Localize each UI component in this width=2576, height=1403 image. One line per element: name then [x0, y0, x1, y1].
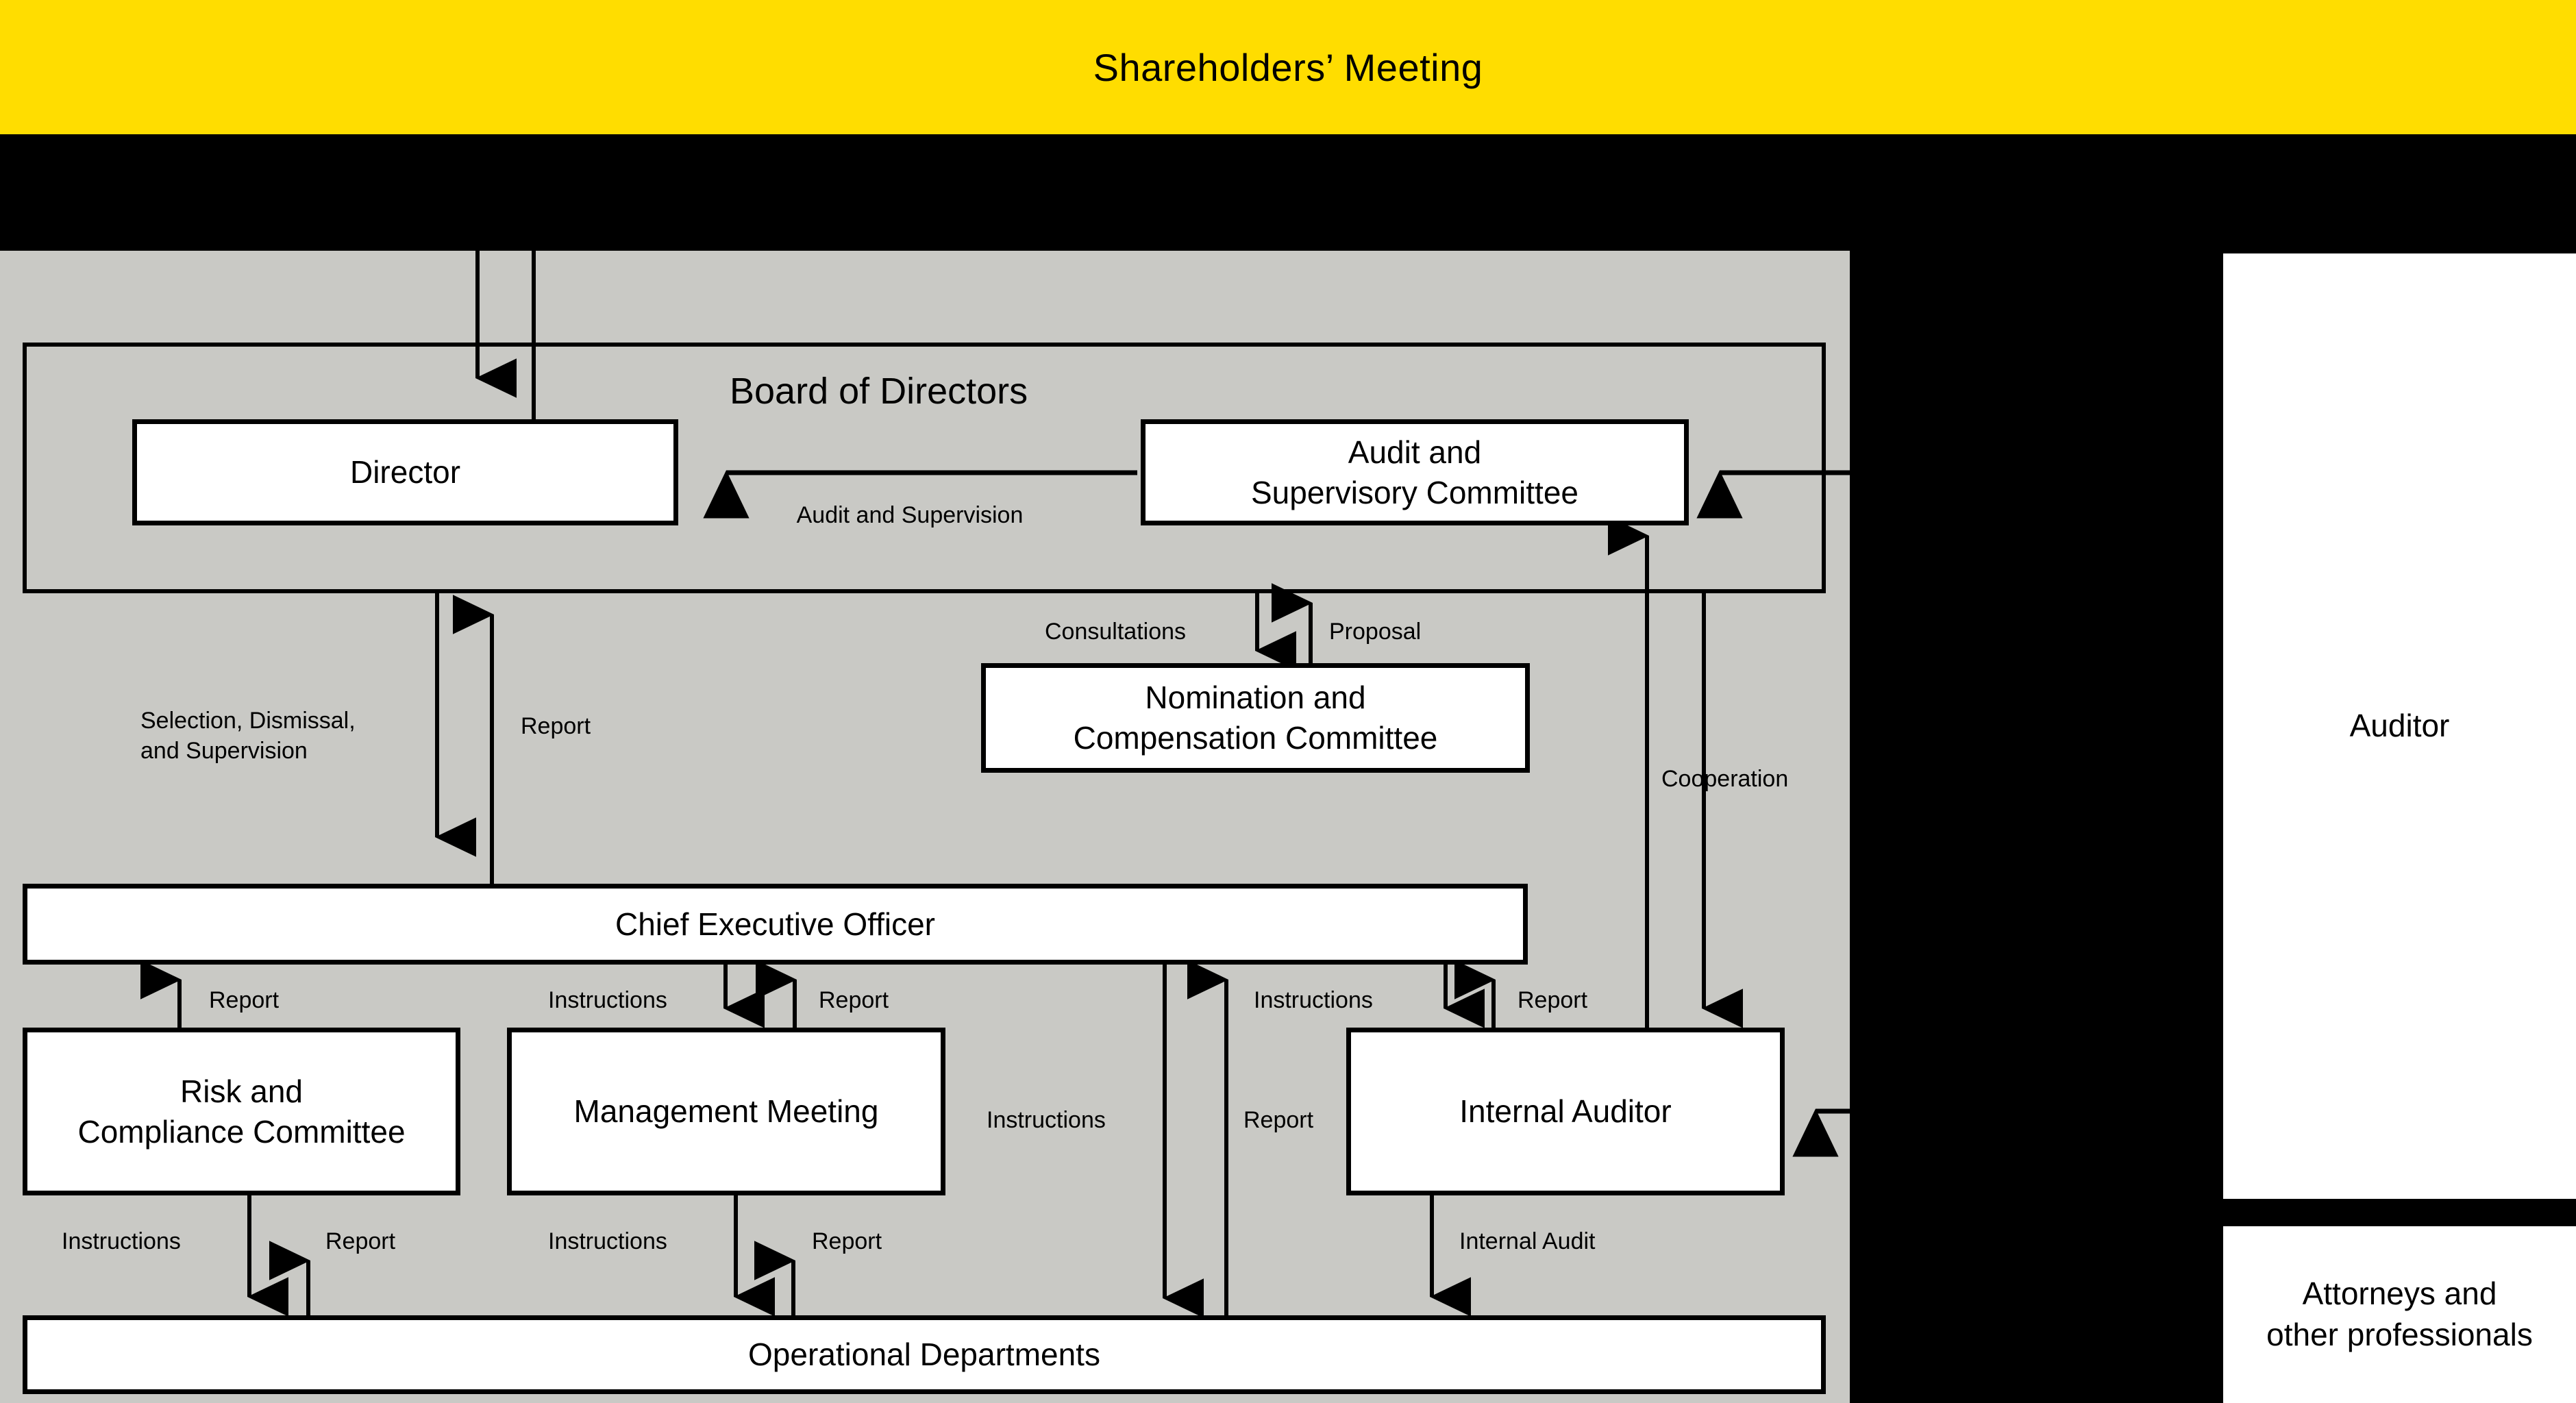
- attorneys-label-line1: Attorneys and: [2303, 1274, 2497, 1315]
- ceo-label: Chief Executive Officer: [615, 904, 935, 945]
- edge-label-report-operational-management: Report: [812, 1226, 882, 1256]
- risk-and-compliance-committee-box[interactable]: Risk and Compliance Committee: [23, 1028, 460, 1195]
- management-meeting-box[interactable]: Management Meeting: [507, 1028, 945, 1195]
- internal-auditor-label: Internal Auditor: [1459, 1091, 1671, 1132]
- shareholders-meeting-banner: Shareholders’ Meeting: [0, 0, 2576, 134]
- risk-label-line2: Compliance Committee: [77, 1112, 405, 1152]
- edge-label-cooperation: Cooperation: [1661, 764, 1788, 794]
- board-of-directors-title: Board of Directors: [730, 370, 1028, 412]
- edge-label-report-risk: Report: [209, 985, 279, 1015]
- nomination-label-line1: Nomination and: [1145, 678, 1365, 718]
- edge-label-instructions-ceo-operational: Instructions: [987, 1105, 1106, 1135]
- edge-label-audit-and-supervision: Audit and Supervision: [766, 500, 1054, 530]
- attorneys-and-other-professionals-box[interactable]: Attorneys and other professionals: [2223, 1226, 2576, 1403]
- audit-committee-label-line2: Supervisory Committee: [1251, 473, 1578, 513]
- selection-line1: Selection, Dismissal,: [140, 706, 428, 736]
- risk-label-line1: Risk and: [180, 1071, 303, 1112]
- audit-and-supervisory-committee-box[interactable]: Audit and Supervisory Committee: [1141, 419, 1689, 525]
- director-label: Director: [350, 452, 460, 493]
- edge-label-report-management: Report: [819, 985, 889, 1015]
- nomination-label-line2: Compensation Committee: [1074, 718, 1438, 758]
- edge-label-internal-audit: Internal Audit: [1459, 1226, 1595, 1256]
- director-box[interactable]: Director: [132, 419, 678, 525]
- auditor-box[interactable]: Auditor: [2223, 253, 2576, 1199]
- internal-auditor-box[interactable]: Internal Auditor: [1346, 1028, 1785, 1195]
- edge-label-report-internal-auditor: Report: [1518, 985, 1587, 1015]
- edge-label-report-operational-risk: Report: [325, 1226, 395, 1256]
- edge-label-report-board-ceo: Report: [521, 711, 591, 741]
- edge-label-instructions-risk-operational: Instructions: [62, 1226, 181, 1256]
- banner-title: Shareholders’ Meeting: [1093, 45, 1483, 90]
- operational-departments-box[interactable]: Operational Departments: [23, 1315, 1826, 1394]
- operational-departments-label: Operational Departments: [748, 1334, 1100, 1375]
- chief-executive-officer-box[interactable]: Chief Executive Officer: [23, 884, 1528, 965]
- governance-diagram: Shareholders’ Meeting: [0, 0, 2576, 1403]
- edge-label-instructions-internal-auditor: Instructions: [1254, 985, 1373, 1015]
- nomination-and-compensation-committee-box[interactable]: Nomination and Compensation Committee: [981, 663, 1530, 773]
- audit-committee-label-line1: Audit and: [1348, 432, 1481, 473]
- edge-label-instructions-management-operational: Instructions: [548, 1226, 667, 1256]
- selection-line2: and Supervision: [140, 736, 428, 766]
- attorneys-label-line2: other professionals: [2266, 1315, 2533, 1356]
- edge-label-selection-dismissal-supervision: Selection, Dismissal, and Supervision: [140, 706, 428, 766]
- management-meeting-label: Management Meeting: [574, 1091, 879, 1132]
- auditor-label: Auditor: [2350, 706, 2450, 747]
- edge-label-proposal: Proposal: [1329, 617, 1421, 647]
- edge-label-consultations: Consultations: [1045, 617, 1186, 647]
- edge-label-instructions-management: Instructions: [548, 985, 667, 1015]
- edge-label-report-operational-ceo: Report: [1243, 1105, 1313, 1135]
